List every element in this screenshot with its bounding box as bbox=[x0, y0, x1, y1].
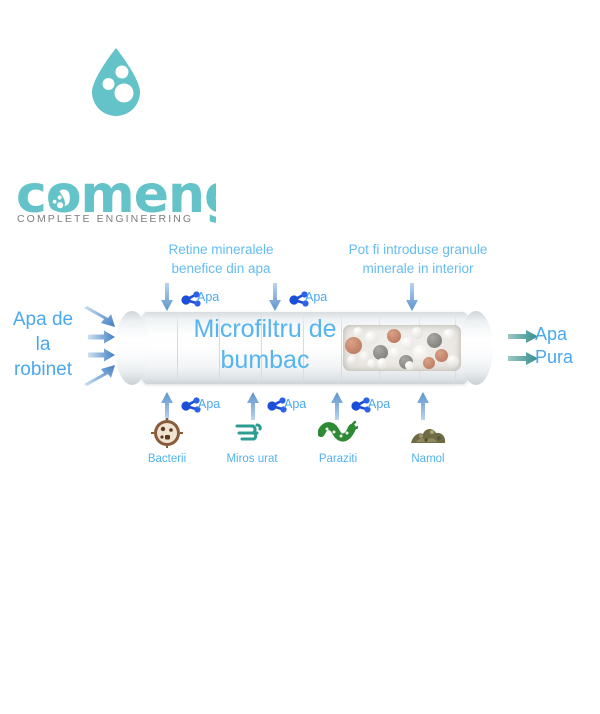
apa-label: Apa bbox=[284, 397, 306, 411]
callout-line: Pot fi introduse granule bbox=[328, 240, 508, 259]
contaminant-label-miros-urat: Miros urat bbox=[210, 453, 294, 465]
inlet-arrow-icon bbox=[82, 362, 118, 391]
callout-line: minerale in interior bbox=[328, 259, 508, 278]
inlet-line: robinet bbox=[2, 357, 84, 382]
granule bbox=[405, 361, 414, 370]
granule bbox=[411, 327, 423, 339]
outlet-label: Apa Pura bbox=[535, 323, 599, 369]
outlet-arrow-icon bbox=[508, 352, 538, 370]
contaminant-label-bacterii: Bacterii bbox=[127, 453, 207, 465]
cartridge-end-cap-right bbox=[459, 311, 493, 385]
odor-waves-icon bbox=[233, 420, 273, 448]
callout-retine-minerale: Retine mineralele benefice din apa bbox=[140, 240, 302, 278]
cartridge-end-cap-left bbox=[115, 311, 149, 385]
outlet-line: Apa bbox=[535, 323, 599, 346]
up-arrow-icon bbox=[416, 392, 430, 425]
inlet-label: Apa de la robinet bbox=[2, 307, 84, 382]
callout-granule-minerale: Pot fi introduse granule minerale in int… bbox=[328, 240, 508, 278]
apa-label: Apa bbox=[368, 397, 390, 411]
inlet-line: la bbox=[2, 332, 84, 357]
granule bbox=[447, 355, 459, 367]
inlet-line: Apa de bbox=[2, 307, 84, 332]
mud-sludge-icon bbox=[408, 422, 448, 450]
granule bbox=[423, 357, 435, 369]
brand-tagline: COMPLETE ENGINEERING bbox=[17, 213, 217, 225]
granule bbox=[387, 329, 401, 343]
contaminant-label-namol: Namol bbox=[390, 453, 466, 465]
granule bbox=[443, 329, 455, 341]
granule bbox=[427, 333, 442, 348]
callout-line: benefice din apa bbox=[140, 259, 302, 278]
granule bbox=[401, 337, 414, 350]
apa-label: Apa bbox=[198, 397, 220, 411]
outlet-line: Pura bbox=[535, 346, 599, 369]
callout-line: Retine mineralele bbox=[140, 240, 302, 259]
brand-logo: comeng COMPLETE ENGINEERING bbox=[0, 46, 230, 186]
outlet-arrow-icon bbox=[508, 330, 538, 348]
apa-label: Apa bbox=[305, 290, 327, 304]
filter-title: Microfiltru de bumbac bbox=[150, 314, 380, 376]
diagram-canvas: comeng COMPLETE ENGINEERING Retine miner… bbox=[0, 0, 600, 714]
bacteria-icon bbox=[150, 418, 190, 446]
inlet-arrow-icon bbox=[88, 330, 116, 349]
filter-title-line2: bumbac bbox=[150, 345, 380, 376]
apa-label: Apa bbox=[197, 290, 219, 304]
filter-title-line1: Microfiltru de bbox=[150, 314, 380, 345]
water-drop-icon bbox=[88, 46, 144, 118]
contaminant-label-paraziti: Paraziti bbox=[298, 453, 378, 465]
parasite-worm-icon bbox=[318, 420, 358, 448]
